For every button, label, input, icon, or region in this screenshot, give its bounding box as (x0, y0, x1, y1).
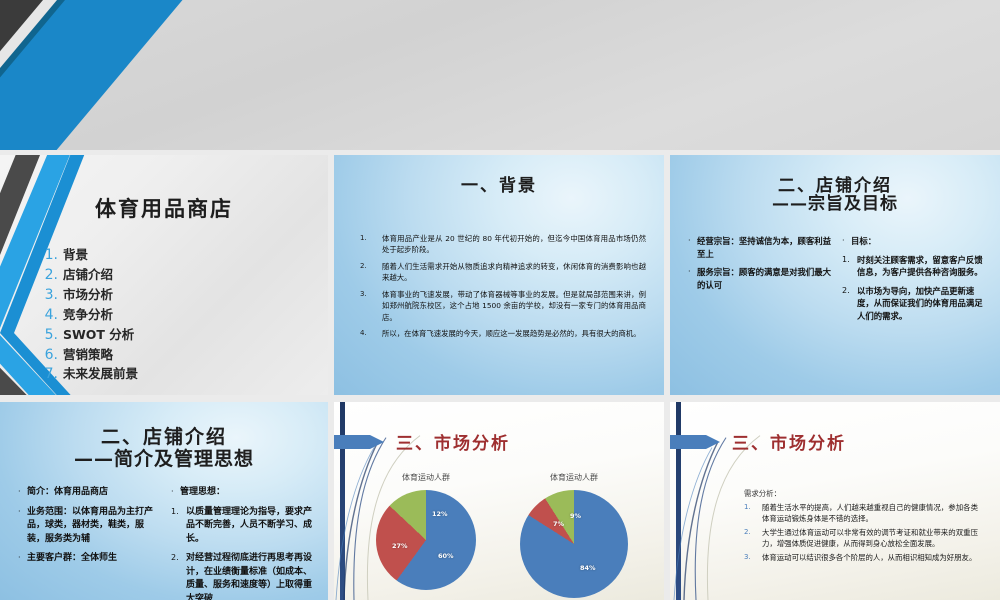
list-item: ·主要客户群：全体师生 (18, 552, 161, 566)
list-item: 2.以市场为导向，加快产品更新速度，从而保证我们的体育用品满足人们的需求。 (842, 285, 986, 323)
item-text: 体育运动可以结识很多各个阶层的人，从而相识相知成为好朋友。 (762, 552, 976, 563)
item-text: 随着人们生活需求开始从物质追求向精神追求的转变，休闲体育的消费影响也越来越大。 (382, 261, 646, 284)
list-item[interactable]: 7.未来发展前景 (38, 366, 278, 384)
agenda-number: 1. (38, 247, 58, 265)
agenda-number: 4. (38, 307, 58, 325)
agenda-label: 未来发展前景 (63, 366, 138, 382)
agenda-label: 市场分析 (63, 287, 113, 303)
decorative-blue-band (0, 0, 327, 150)
bullet-text: 服务宗旨：顾客的满意是对我们最大的认可 (697, 266, 832, 291)
bullet-text: 业务范围：以体育用品为主打产品，球类，器材类，鞋类，服装，服务类为辅 (27, 506, 161, 547)
list-item[interactable]: 3.市场分析 (38, 287, 278, 305)
background-list: 1.体育用品产业是从 20 世纪的 80 年代初开始的，但迄今中国体育用品市场仍… (360, 233, 646, 345)
agenda-label: SWOT 分析 (63, 327, 134, 343)
item-text: 体育事业的飞速发展，带动了体育器械等事业的发展。但是就局部范围来讲，例如郑州航院… (382, 289, 646, 323)
item-text: 随着生活水平的提高，人们越来越重视自己的健康情况，参加各类体育运动锻炼身体是不错… (762, 502, 978, 524)
slide-thumbnail-title[interactable]: 体育用品商店 1.背景 2.店铺介绍 3.市场分析 4.竞争分析 5.SWOT … (0, 155, 328, 395)
arrow-banner-icon (670, 432, 720, 452)
chart-title: 体育运动人群 (520, 472, 628, 483)
bullet-icon: · (688, 235, 697, 260)
bullet-icon: · (18, 552, 27, 566)
agenda-label: 营销策略 (63, 347, 113, 363)
list-item: 3.体育运动可以结识很多各个阶层的人，从而相识相知成为好朋友。 (744, 552, 978, 563)
item-number: 2. (842, 285, 857, 323)
item-text: 以市场为导向，加快产品更新速度，从而保证我们的体育用品满足人们的需求。 (857, 285, 986, 323)
right-column: ·目标： 1.时刻关注顾客需求，留意客户反馈信息，为客户提供各种咨询服务。 2.… (842, 235, 986, 329)
list-item: 2.随着人们生活需求开始从物质追求向精神追求的转变，休闲体育的消费影响也越来越大… (360, 261, 646, 284)
item-text: 所以，在体育飞速发展的今天，顺应这一发展趋势是必然的，具有很大的商机。 (382, 328, 641, 339)
pie-value-label: 27% (392, 542, 408, 550)
list-item: 2.大学生通过体育运动可以非常有效的调节考证和就业带来的双重压力，增强体质促进健… (744, 527, 978, 549)
pie-value-label: 9% (570, 512, 581, 520)
title-line-2: ——宗旨及目标 (670, 189, 1000, 214)
item-number: 2. (171, 552, 186, 600)
content-columns: ·简介：体育用品商店 ·业务范围：以体育用品为主打产品，球类，器材类，鞋类，服装… (18, 486, 314, 600)
list-item: 1.体育用品产业是从 20 世纪的 80 年代初开始的，但迄今中国体育用品市场仍… (360, 233, 646, 256)
list-item: 4.所以，在体育飞速发展的今天，顺应这一发展趋势是必然的，具有很大的商机。 (360, 328, 646, 339)
list-item: 1.时刻关注顾客需求，留意客户反馈信息，为客户提供各种咨询服务。 (842, 254, 986, 279)
list-item: ·目标： (842, 235, 986, 248)
agenda-number: 7. (38, 366, 58, 384)
page-title: 体育用品商店 (0, 193, 328, 223)
agenda-label: 竞争分析 (63, 307, 113, 323)
item-text: 对经营过程彻底进行再思考再设计，在业绩衡量标准（如成本、质量、服务和速度等）上取… (186, 552, 314, 600)
right-column: ·管理思想： 1.以质量管理理论为指导，要求产品不断完善，人员不断学习、成长。 … (171, 486, 314, 600)
arrow-banner-icon (334, 432, 384, 452)
pie-value-label: 60% (438, 552, 454, 560)
item-text: 体育用品产业是从 20 世纪的 80 年代初开始的，但迄今中国体育用品市场仍然处… (382, 233, 646, 256)
item-text: 时刻关注顾客需求，留意客户反馈信息，为客户提供各种咨询服务。 (857, 254, 986, 279)
list-item[interactable]: 4.竞争分析 (38, 307, 278, 325)
agenda-label: 店铺介绍 (63, 267, 113, 283)
pie-value-label: 84% (580, 564, 596, 572)
pie-graphic: 60% 27% 12% (376, 490, 476, 590)
section-header: 需求分析： (744, 488, 781, 499)
item-number: 3. (744, 552, 762, 563)
pie-value-label: 12% (432, 510, 448, 518)
agenda-number: 6. (38, 347, 58, 365)
bullet-icon: · (842, 235, 851, 248)
bullet-text: 简介：体育用品商店 (27, 486, 108, 500)
pie-chart-2: 体育运动人群 84% 7% 9% (520, 490, 628, 598)
bullet-icon: · (688, 266, 697, 291)
slide-thumbnail-partial-top[interactable] (0, 0, 1000, 150)
left-column: ·简介：体育用品商店 ·业务范围：以体育用品为主打产品，球类，器材类，鞋类，服装… (18, 486, 161, 600)
pie-value-label: 7% (553, 520, 564, 528)
item-number: 1. (842, 254, 857, 279)
agenda-label: 背景 (63, 247, 88, 263)
content-columns: ·经营宗旨：坚持诚信为本，顾客利益至上 ·服务宗旨：顾客的满意是对我们最大的认可… (688, 235, 986, 329)
chart-title: 体育运动人群 (376, 472, 476, 483)
list-item[interactable]: 1.背景 (38, 247, 278, 265)
bullet-text: 经营宗旨：坚持诚信为本，顾客利益至上 (697, 235, 832, 260)
item-number: 4. (360, 328, 382, 339)
item-text: 以质量管理理论为指导，要求产品不断完善，人员不断学习、成长。 (186, 506, 314, 547)
demand-list: 1.随着生活水平的提高，人们越来越重视自己的健康情况，参加各类体育运动锻炼身体是… (744, 502, 978, 567)
list-item: 1.随着生活水平的提高，人们越来越重视自己的健康情况，参加各类体育运动锻炼身体是… (744, 502, 978, 524)
item-text: 大学生通过体育运动可以非常有效的调节考证和就业带来的双重压力，增强体质促进健康，… (762, 527, 978, 549)
list-item: ·管理思想： (171, 486, 314, 500)
title-line-1: 一、背景 (334, 171, 664, 196)
slide-thumbnail-market-demand[interactable]: 三、市场分析 需求分析： 1.随着生活水平的提高，人们越来越重视自己的健康情况，… (670, 402, 1000, 600)
pie-chart-1: 体育运动人群 60% 27% 12% (376, 490, 476, 590)
list-item: ·经营宗旨：坚持诚信为本，顾客利益至上 (688, 235, 832, 260)
agenda-list: 1.背景 2.店铺介绍 3.市场分析 4.竞争分析 5.SWOT 分析 6.营销… (38, 247, 278, 386)
list-item: 1.以质量管理理论为指导，要求产品不断完善，人员不断学习、成长。 (171, 506, 314, 547)
list-item: 3.体育事业的飞速发展，带动了体育器械等事业的发展。但是就局部范围来讲，例如郑州… (360, 289, 646, 323)
slide-thumbnail-market-charts[interactable]: 三、市场分析 体育运动人群 60% 27% 12% 体育运动人群 84% 7% … (334, 402, 664, 600)
item-number: 2. (360, 261, 382, 284)
left-column: ·经营宗旨：坚持诚信为本，顾客利益至上 ·服务宗旨：顾客的满意是对我们最大的认可 (688, 235, 832, 329)
slide-thumbnail-store-intro-aim[interactable]: 二、店铺介绍 ——宗旨及目标 ·经营宗旨：坚持诚信为本，顾客利益至上 ·服务宗旨… (670, 155, 1000, 395)
title-line-2: ——简介及管理思想 (0, 444, 328, 471)
page-title: 三、市场分析 (396, 429, 510, 454)
bullet-icon: · (18, 486, 27, 500)
item-number: 3. (360, 289, 382, 323)
item-number: 2. (744, 527, 762, 549)
slide-sorter-view: 体育用品商店 1.背景 2.店铺介绍 3.市场分析 4.竞争分析 5.SWOT … (0, 0, 1000, 600)
bullet-icon: · (18, 506, 27, 547)
slide-thumbnail-background[interactable]: 一、背景 1.体育用品产业是从 20 世纪的 80 年代初开始的，但迄今中国体育… (334, 155, 664, 395)
list-item[interactable]: 6.营销策略 (38, 347, 278, 365)
page-title: 一、背景 (334, 171, 664, 196)
item-number: 1. (171, 506, 186, 547)
item-number: 1. (744, 502, 762, 524)
agenda-number: 5. (38, 327, 58, 345)
list-item[interactable]: 5.SWOT 分析 (38, 327, 278, 345)
page-title: 二、店铺介绍 ——宗旨及目标 (670, 171, 1000, 214)
column-header: 管理思想： (180, 486, 225, 500)
column-header: 目标： (851, 235, 876, 248)
list-item: ·简介：体育用品商店 (18, 486, 161, 500)
page-title: 二、店铺介绍 ——简介及管理思想 (0, 422, 328, 471)
bullet-icon: · (171, 486, 180, 500)
list-item: ·服务宗旨：顾客的满意是对我们最大的认可 (688, 266, 832, 291)
item-number: 1. (360, 233, 382, 256)
slide-thumbnail-store-intro-mgmt[interactable]: 二、店铺介绍 ——简介及管理思想 ·简介：体育用品商店 ·业务范围：以体育用品为… (0, 402, 328, 600)
bullet-text: 主要客户群：全体师生 (27, 552, 117, 566)
list-item: 2.对经营过程彻底进行再思考再设计，在业绩衡量标准（如成本、质量、服务和速度等）… (171, 552, 314, 600)
pie-graphic: 84% 7% 9% (520, 490, 628, 598)
list-item[interactable]: 2.店铺介绍 (38, 267, 278, 285)
agenda-number: 2. (38, 267, 58, 285)
agenda-number: 3. (38, 287, 58, 305)
list-item: ·业务范围：以体育用品为主打产品，球类，器材类，鞋类，服装，服务类为辅 (18, 506, 161, 547)
page-title: 三、市场分析 (732, 429, 846, 454)
